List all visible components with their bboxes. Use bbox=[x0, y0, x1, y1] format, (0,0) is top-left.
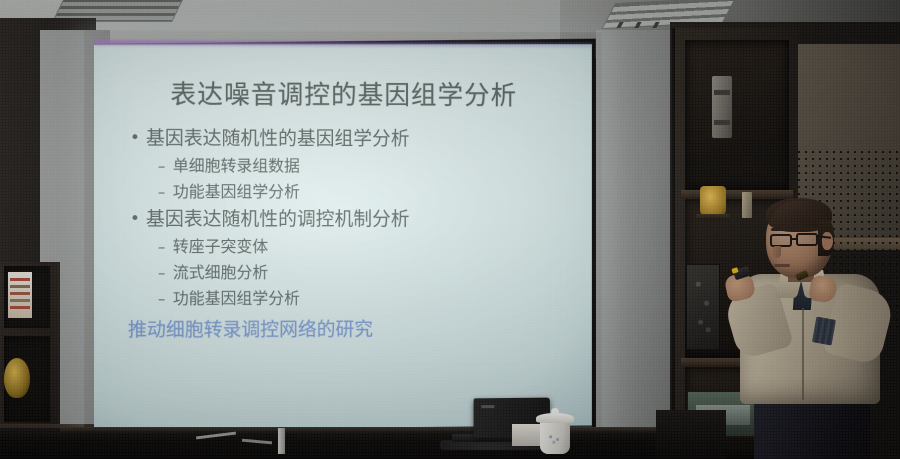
sub-bullet-text: 功能基因组学分析 bbox=[173, 287, 300, 311]
presenter-eyebrow bbox=[797, 227, 817, 230]
right-wall-panel bbox=[596, 30, 678, 459]
bullet-marker: • bbox=[130, 125, 146, 152]
sub-bullet-text: 流式细胞分析 bbox=[173, 261, 268, 285]
sub-bullet-text: 单细胞转录组数据 bbox=[173, 154, 300, 178]
slide-content: 表达噪音调控的基因组学分析 • 基因表达随机性的基因组学分析 – 单细胞转录组数… bbox=[94, 42, 592, 430]
bullet-marker: • bbox=[130, 206, 146, 233]
jacket-zipper bbox=[802, 308, 804, 400]
eyeglasses-icon bbox=[770, 234, 792, 247]
slide-sub-bullet: – 流式细胞分析 bbox=[158, 261, 574, 285]
projection-screen: 表达噪音调控的基因组学分析 • 基因表达随机性的基因组学分析 – 单细胞转录组数… bbox=[90, 34, 596, 434]
slide-title: 表达噪音调控的基因组学分析 bbox=[112, 74, 574, 112]
sub-bullet-text: 功能基因组学分析 bbox=[173, 180, 300, 204]
bullet-text: 基因表达随机性的基因组学分析 bbox=[146, 125, 410, 152]
eyeglasses-bridge bbox=[791, 238, 798, 240]
presenter-mouth bbox=[774, 264, 790, 267]
canister-ornament bbox=[712, 76, 732, 138]
slide-bullet: • 基因表达随机性的基因组学分析 bbox=[130, 125, 574, 153]
wall-poster bbox=[8, 272, 32, 318]
sub-bullet-marker: – bbox=[158, 287, 173, 311]
presenter-eyebrow bbox=[771, 228, 791, 231]
bullet-text: 基因表达随机性的调控机制分析 bbox=[146, 206, 410, 233]
sub-bullet-text: 转座子突变体 bbox=[173, 235, 268, 259]
slide-sub-bullet: – 转座子突变体 bbox=[158, 235, 574, 259]
paper-stack bbox=[512, 424, 540, 446]
slide-sub-bullet: – 功能基因组学分析 bbox=[158, 286, 574, 310]
slide-footer-line: 推动细胞转录调控网络的研究 bbox=[128, 316, 574, 343]
screen-post bbox=[278, 428, 285, 454]
sub-bullet-marker: – bbox=[158, 261, 173, 285]
presenter-nose bbox=[772, 246, 781, 258]
slide-sub-bullet: – 功能基因组学分析 bbox=[158, 180, 574, 204]
chair bbox=[656, 410, 726, 459]
gold-vase-ornament bbox=[700, 186, 726, 216]
presenter bbox=[726, 196, 900, 459]
teacup-knob bbox=[551, 408, 559, 415]
desk-edge bbox=[60, 427, 660, 433]
shelf-cavity bbox=[685, 40, 789, 190]
presenter-trousers bbox=[754, 396, 870, 459]
vase-base bbox=[696, 214, 730, 220]
gold-ornament bbox=[4, 358, 30, 398]
sub-bullet-marker: – bbox=[158, 154, 173, 178]
slide-sub-bullet: – 单细胞转录组数据 bbox=[158, 154, 574, 179]
framed-art bbox=[686, 264, 720, 350]
eyeglasses-icon bbox=[796, 233, 818, 246]
laptop-logo bbox=[481, 405, 494, 408]
presentation-room-photo: 表达噪音调控的基因组学分析 • 基因表达随机性的基因组学分析 – 单细胞转录组数… bbox=[0, 0, 900, 459]
teacup-decoration bbox=[544, 432, 566, 444]
presenter-ear bbox=[822, 232, 833, 250]
sub-bullet-marker: – bbox=[158, 235, 173, 259]
sub-bullet-marker: – bbox=[158, 180, 173, 204]
slide-bullet: • 基因表达随机性的调控机制分析 bbox=[130, 206, 574, 233]
